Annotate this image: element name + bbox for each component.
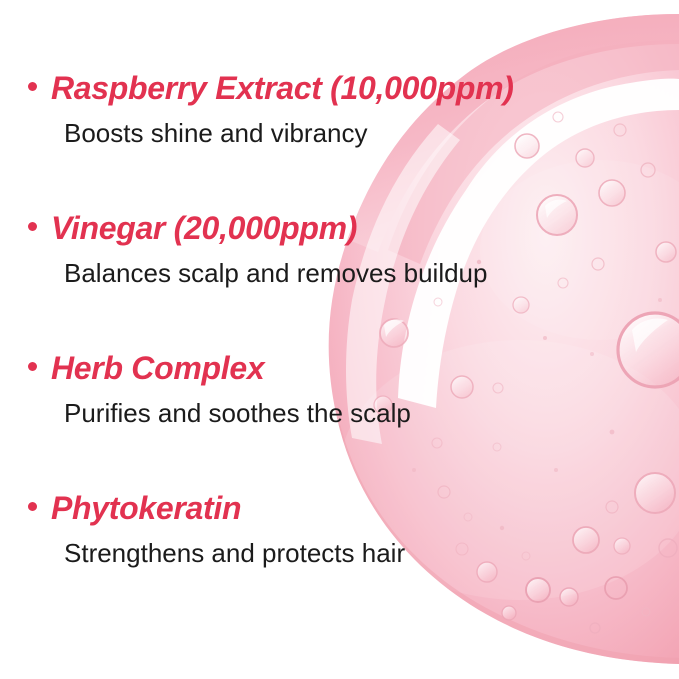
benefit-title: Herb Complex bbox=[51, 348, 264, 388]
list-item: Vinegar (20,000ppm) Balances scalp and r… bbox=[28, 208, 648, 290]
benefit-description: Balances scalp and removes buildup bbox=[64, 256, 648, 290]
bullet-dot-icon bbox=[28, 222, 37, 231]
benefit-title-row: Raspberry Extract (10,000ppm) bbox=[28, 68, 648, 108]
benefit-title: Vinegar (20,000ppm) bbox=[51, 208, 357, 248]
benefit-title-row: Vinegar (20,000ppm) bbox=[28, 208, 648, 248]
list-item: Herb Complex Purifies and soothes the sc… bbox=[28, 348, 648, 430]
list-item: Phytokeratin Strengthens and protects ha… bbox=[28, 488, 648, 570]
list-item: Raspberry Extract (10,000ppm) Boosts shi… bbox=[28, 68, 648, 150]
benefit-description: Strengthens and protects hair bbox=[64, 536, 648, 570]
benefits-list: Raspberry Extract (10,000ppm) Boosts shi… bbox=[0, 0, 679, 679]
bullet-dot-icon bbox=[28, 82, 37, 91]
benefit-description: Purifies and soothes the scalp bbox=[64, 396, 648, 430]
benefit-title: Raspberry Extract (10,000ppm) bbox=[51, 68, 514, 108]
benefit-title-row: Herb Complex bbox=[28, 348, 648, 388]
product-benefits-graphic: Raspberry Extract (10,000ppm) Boosts shi… bbox=[0, 0, 679, 679]
bullet-dot-icon bbox=[28, 362, 37, 371]
bullet-dot-icon bbox=[28, 502, 37, 511]
benefit-title-row: Phytokeratin bbox=[28, 488, 648, 528]
benefit-description: Boosts shine and vibrancy bbox=[64, 116, 648, 150]
benefit-title: Phytokeratin bbox=[51, 488, 241, 528]
